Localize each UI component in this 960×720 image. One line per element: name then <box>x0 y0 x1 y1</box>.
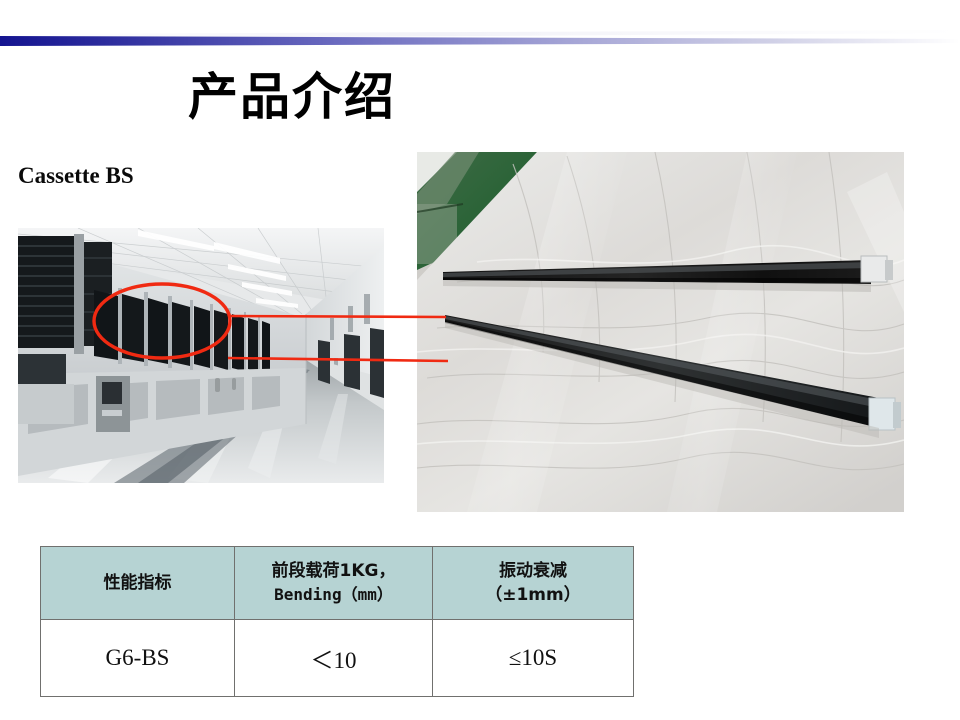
header-damping-line2: （±1mm） <box>433 583 633 607</box>
table-header-cell-metric: 性能指标 <box>41 547 235 620</box>
header-damping-line1: 振动衰减 <box>433 559 633 583</box>
header-metric-line1: 性能指标 <box>41 571 234 595</box>
table-header-row: 性能指标 前段载荷1KG， Bending（mm） 振动衰减 （±1mm） <box>41 547 634 620</box>
cell-bending-value: ＜10 <box>235 620 433 697</box>
cassette-beams-graphic <box>417 152 904 512</box>
cell-damping-value: ≤10S <box>433 620 634 697</box>
spec-table: 性能指标 前段载荷1KG， Bending（mm） 振动衰减 （±1mm） G6… <box>40 546 634 697</box>
fab-cleanroom-photo <box>18 228 384 483</box>
cell-model: G6-BS <box>41 620 235 697</box>
table-header-cell-damping: 振动衰减 （±1mm） <box>433 547 634 620</box>
page-title: 产品介绍 <box>188 68 396 126</box>
gradient-bar-graphic <box>0 30 960 46</box>
header-bending-line2: Bending（mm） <box>235 583 432 607</box>
product-name-label: Cassette BS <box>18 162 134 190</box>
table-row: G6-BS ＜10 ≤10S <box>41 620 634 697</box>
cassette-beams-photo <box>417 152 904 512</box>
decorative-gradient-bar <box>0 30 960 46</box>
header-bending-line1: 前段载荷1KG， <box>235 559 432 583</box>
fab-cleanroom-graphic <box>18 228 384 483</box>
table-header-cell-bending: 前段载荷1KG， Bending（mm） <box>235 547 433 620</box>
